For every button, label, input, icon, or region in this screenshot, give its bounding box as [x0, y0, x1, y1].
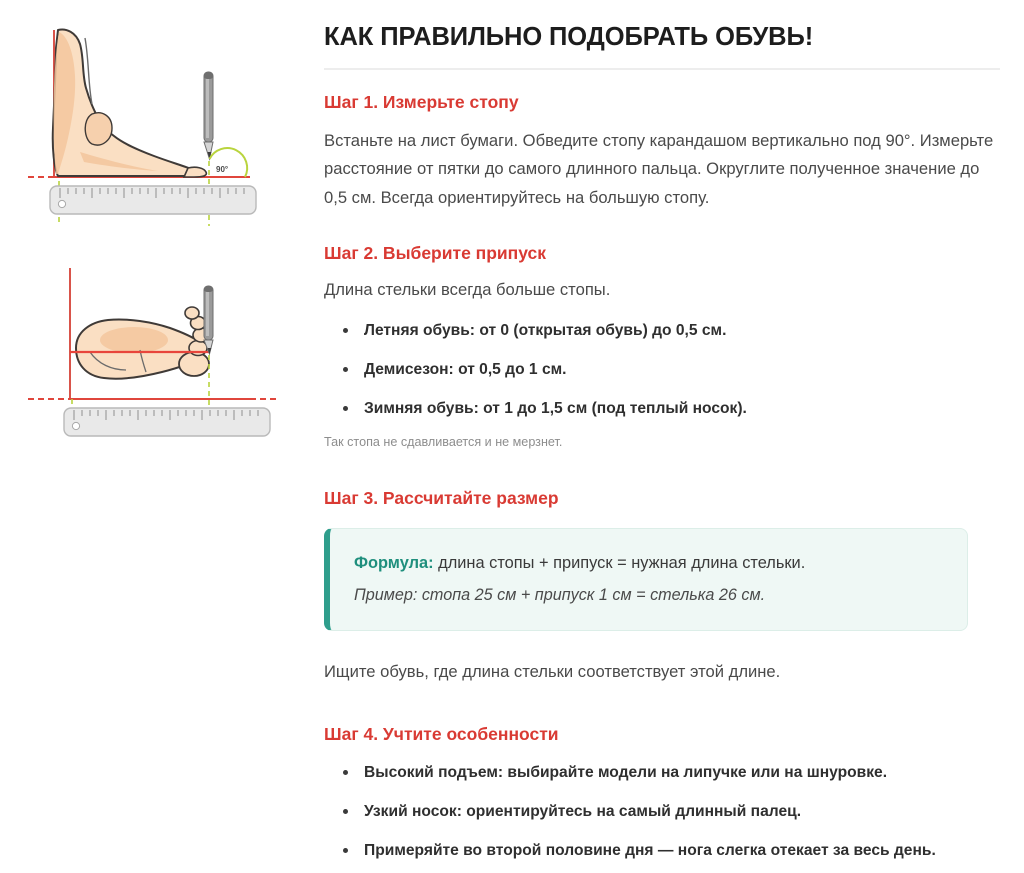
- list-item: Демисезон: от 0,5 до 1 см.: [324, 359, 1000, 380]
- pencil-highlight: [206, 76, 209, 138]
- list-item: Летняя обувь: от 0 (открытая обувь) до 0…: [324, 320, 1000, 341]
- ruler: [64, 408, 270, 436]
- list-item: Зимняя обувь: от 1 до 1,5 см (под теплый…: [324, 398, 1000, 419]
- pencil-icon: [204, 72, 213, 159]
- ankle-bone: [85, 113, 112, 145]
- step-3-heading: Шаг 3. Рассчитайте размер: [324, 488, 1000, 510]
- list-item: Высокий подъем: выбирайте модели на липу…: [324, 762, 1000, 783]
- pencil-cap: [204, 286, 213, 292]
- pencil-icon: [204, 286, 213, 354]
- step-4-heading: Шаг 4. Учтите особенности: [324, 724, 1000, 746]
- ruler: [50, 186, 256, 214]
- step-2-paragraph: Длина стельки всегда больше стопы.: [324, 277, 996, 304]
- formula-line: Формула: длина стопы + припуск = нужная …: [354, 551, 941, 576]
- pencil-highlight: [206, 290, 209, 336]
- big-toe: [184, 167, 206, 177]
- ruler-body: [50, 186, 256, 214]
- step-4-bullet-list: Высокий подъем: выбирайте модели на липу…: [324, 762, 1000, 861]
- formula-callout: Формула: длина стопы + припуск = нужная …: [324, 528, 968, 632]
- pencil-cap: [204, 72, 213, 79]
- guide-page: 90°: [0, 0, 1024, 873]
- formula-example: Пример: стопа 25 см + припуск 1 см = сте…: [354, 583, 941, 608]
- toe-2: [189, 341, 207, 356]
- step-2-caption: Так стопа не сдавливается и не мерзнет.: [324, 433, 1000, 452]
- toe-5: [185, 307, 199, 319]
- step-2-bullet-list: Летняя обувь: от 0 (открытая обувь) до 0…: [324, 320, 1000, 419]
- list-item: Примеряйте во второй половине дня — нога…: [324, 840, 1000, 861]
- formula-label: Формула:: [354, 554, 434, 572]
- list-item: Узкий носок: ориентируйтесь на самый дли…: [324, 801, 1000, 822]
- ruler-body: [64, 408, 270, 436]
- ruler-hole: [72, 422, 79, 429]
- title-divider: [324, 68, 1000, 70]
- ruler-hole: [58, 200, 65, 207]
- foot-side-view-illustration: 90°: [28, 18, 280, 246]
- page-title: КАК ПРАВИЛЬНО ПОДОБРАТЬ ОБУВЬ!: [324, 22, 1000, 52]
- step-1-paragraph: Встаньте на лист бумаги. Обведите стопу …: [324, 127, 996, 213]
- step-3-after-text: Ищите обувь, где длина стельки соответст…: [324, 658, 996, 687]
- illustration-column: 90°: [0, 0, 320, 446]
- foot-side-silhouette: [53, 30, 204, 176]
- ball-shading: [100, 327, 168, 353]
- formula-text: длина стопы + припуск = нужная длина сте…: [434, 554, 806, 572]
- step-2-heading: Шаг 2. Выберите припуск: [324, 243, 1000, 265]
- content-column: КАК ПРАВИЛЬНО ПОДОБРАТЬ ОБУВЬ! Шаг 1. Из…: [320, 0, 1024, 861]
- step-1-heading: Шаг 1. Измерьте стопу: [324, 92, 1000, 114]
- foot-top-view-illustration: [28, 260, 280, 446]
- angle-label: 90°: [216, 165, 228, 174]
